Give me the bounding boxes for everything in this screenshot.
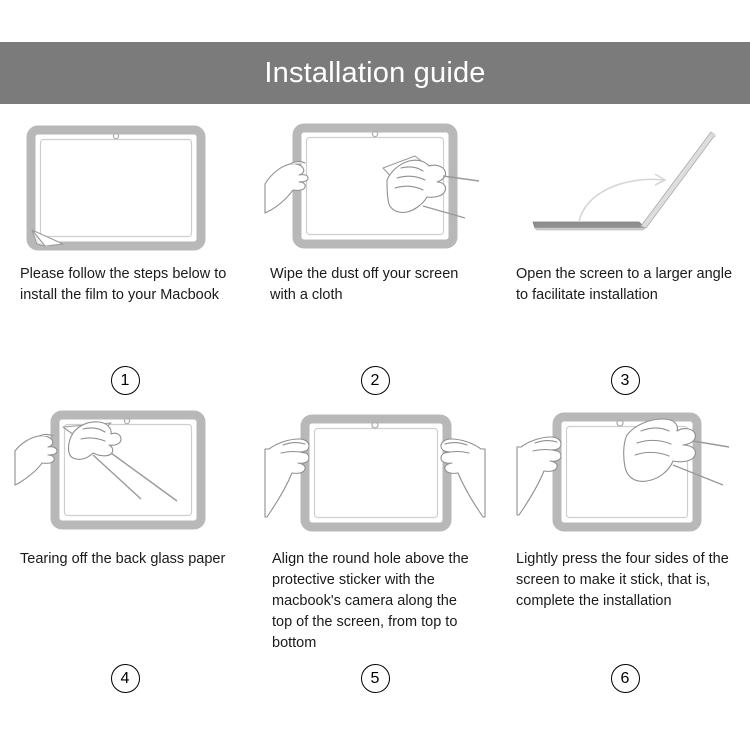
step-number-badge-5: 5 bbox=[361, 664, 390, 693]
steps-row-1: Please follow the steps below to install… bbox=[0, 118, 750, 403]
step-illustration-2 bbox=[265, 118, 485, 248]
step-badge-wrap-6: 6 bbox=[500, 664, 750, 703]
step-caption-4: Tearing off the back glass paper bbox=[20, 549, 230, 570]
step-badge-wrap-1: 1 bbox=[0, 366, 250, 403]
step-card-6: Lightly press the four sides of the scre… bbox=[500, 403, 750, 703]
steps-row-2: Tearing off the back glass paper 4 bbox=[0, 403, 750, 703]
step-caption-3: Open the screen to a larger angle to fac… bbox=[516, 264, 734, 306]
step-badge-wrap-5: 5 bbox=[250, 664, 500, 703]
step-card-3: Open the screen to a larger angle to fac… bbox=[500, 118, 750, 403]
step-illustration-1 bbox=[15, 118, 235, 248]
step-badge-wrap-3: 3 bbox=[500, 366, 750, 403]
step-card-2: Wipe the dust off your screen with a clo… bbox=[250, 118, 500, 403]
step-number-badge-6: 6 bbox=[611, 664, 640, 693]
page-title: Installation guide bbox=[264, 59, 485, 88]
step-caption-1: Please follow the steps below to install… bbox=[20, 264, 230, 306]
step-badge-wrap-2: 2 bbox=[250, 366, 500, 403]
step-card-4: Tearing off the back glass paper 4 bbox=[0, 403, 250, 703]
step-card-5: Align the round hole above the protectiv… bbox=[250, 403, 500, 703]
step-badge-wrap-4: 4 bbox=[0, 664, 250, 703]
step-illustration-3 bbox=[515, 118, 735, 248]
steps-grid: Please follow the steps below to install… bbox=[0, 118, 750, 703]
step-caption-5: Align the round hole above the protectiv… bbox=[272, 549, 478, 654]
step-number-badge-4: 4 bbox=[111, 664, 140, 693]
step-illustration-5 bbox=[265, 403, 485, 533]
step-caption-2: Wipe the dust off your screen with a clo… bbox=[270, 264, 480, 306]
header-band: Installation guide bbox=[0, 42, 750, 104]
step-illustration-6 bbox=[515, 403, 735, 533]
step-number-badge-1: 1 bbox=[111, 366, 140, 395]
step-caption-6: Lightly press the four sides of the scre… bbox=[516, 549, 734, 612]
installation-guide-page: Installation guide Please fo bbox=[0, 0, 750, 750]
step-number-badge-3: 3 bbox=[611, 366, 640, 395]
step-illustration-4 bbox=[15, 403, 235, 533]
step-number-badge-2: 2 bbox=[361, 366, 390, 395]
step-card-1: Please follow the steps below to install… bbox=[0, 118, 250, 403]
